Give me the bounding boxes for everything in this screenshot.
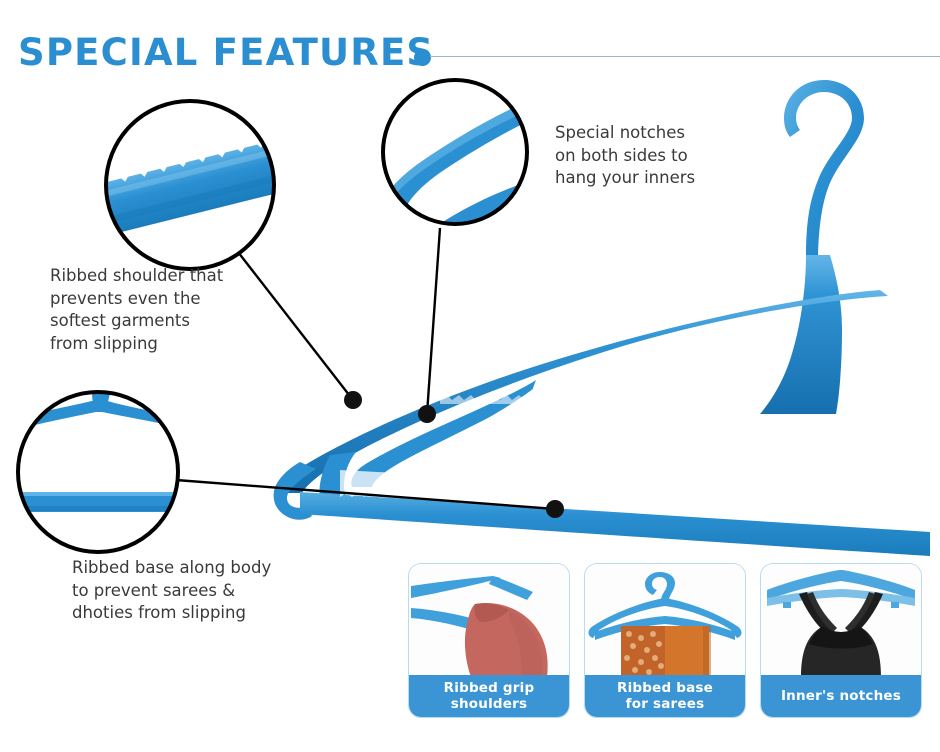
card-photo-red-shirt (409, 564, 569, 677)
feature-card-list: Ribbed grip shoulders (408, 563, 922, 718)
card-caption-inners-notches: Inner's notches (761, 675, 921, 717)
page-title: SPECIAL FEATURES (18, 31, 434, 74)
card-caption-ribbed-base-for-sarees: Ribbed base for sarees (585, 675, 745, 717)
callout-special-notches: Special notches on both sides to hang yo… (555, 122, 770, 190)
magnifier-ribbed-base (14, 388, 184, 558)
pointer-dot-shoulder (344, 391, 362, 409)
header-rule (430, 56, 940, 57)
callout-ribbed-base: Ribbed base along body to prevent sarees… (72, 557, 322, 625)
callout-ribbed-shoulder: Ribbed shoulder that prevents even the s… (50, 265, 280, 355)
leader-line-notches (427, 228, 440, 414)
bottom-bar-rib-teeth (340, 470, 916, 500)
feature-card-ribbed-grip-shoulders[interactable]: Ribbed grip shoulders (408, 563, 570, 718)
card-caption-ribbed-grip-shoulders: Ribbed grip shoulders (409, 675, 569, 717)
feature-card-inners-notches[interactable]: Inner's notches (760, 563, 922, 718)
card-photo-orange-saree (585, 564, 745, 677)
feature-card-ribbed-base-for-sarees[interactable]: Ribbed base for sarees (584, 563, 746, 718)
hanger-hook-icon (784, 80, 864, 262)
hanger-bottom-bar (300, 492, 930, 556)
hanger-stem (760, 255, 842, 414)
infographic-canvas: SPECIAL FEATURES Ribbed shoulder that pr… (0, 0, 940, 752)
magnifier-ribbed-shoulder (74, 95, 303, 280)
magnifier-notch (380, 77, 540, 254)
bullet-dot-icon (414, 49, 431, 66)
card-photo-black-camisole (761, 564, 921, 677)
pointer-dot-base (546, 500, 564, 518)
pointer-dot-notches (418, 405, 436, 423)
